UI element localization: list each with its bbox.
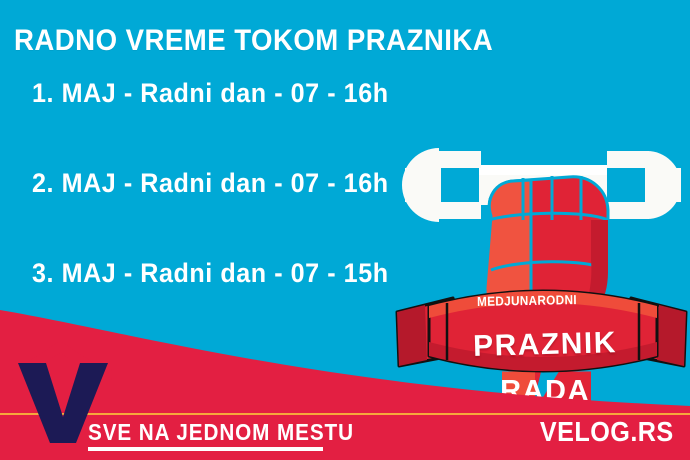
schedule-line: 2. MAJ - Radni dan - 07 - 16h <box>32 170 389 197</box>
schedule-line: 3. MAJ - Radni dan - 07 - 15h <box>32 260 389 287</box>
holiday-hours-poster: RADNO VREME TOKOM PRAZNIKA 1. MAJ - Radn… <box>0 0 690 460</box>
footer-website[interactable]: VELOG.RS <box>540 416 674 448</box>
tagline-underline <box>88 447 323 451</box>
schedule-line: 1. MAJ - Radni dan - 07 - 16h <box>32 80 389 107</box>
footer-tagline: SVE NA JEDNOM MESTU <box>88 419 354 446</box>
page-title: RADNO VREME TOKOM PRAZNIKA <box>14 26 493 56</box>
